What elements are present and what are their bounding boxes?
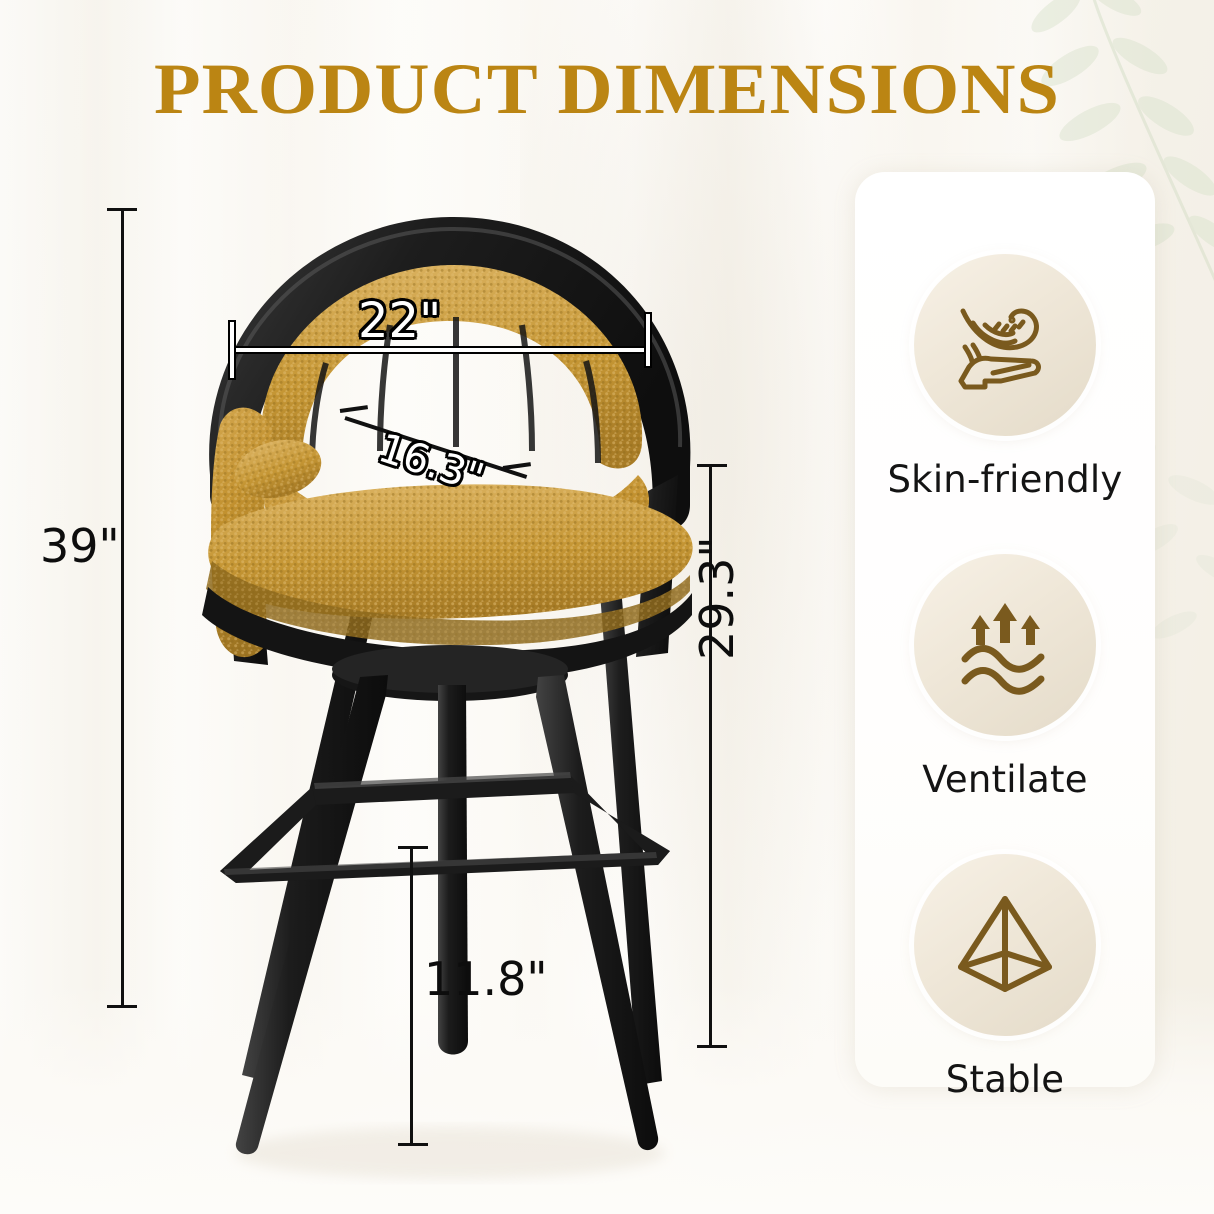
feature-item-skin-friendly[interactable]: Skin-friendly [855,254,1155,501]
feature-icon-circle-ventilate [914,554,1096,736]
pyramid-icon [949,889,1061,1001]
feature-icon-circle-skin-friendly [914,254,1096,436]
feature-item-stable[interactable]: Stable [855,854,1155,1101]
airflow-waves-icon [949,589,1061,701]
feature-label-skin-friendly: Skin-friendly [855,458,1155,501]
bar-stool-illustration [150,175,770,1185]
feature-item-ventilate[interactable]: Ventilate [855,554,1155,801]
feature-panel: Skin-friendly [855,172,1155,1087]
feature-label-stable: Stable [855,1058,1155,1101]
product-dimensions-infographic: PRODUCT DIMENSIONS [0,0,1214,1214]
stool-legs-front [236,675,658,1154]
page-title: PRODUCT DIMENSIONS [0,48,1214,131]
hand-fabric-icon [949,289,1061,401]
dimension-label-back-width: 22" [358,293,441,349]
dimension-label-footrest-height: 11.8" [424,952,548,1006]
feature-icon-circle-stable [914,854,1096,1036]
dimension-label-overall-height: 39" [40,519,120,573]
feature-label-ventilate: Ventilate [855,758,1155,801]
dimension-label-seat-height: 29.3" [690,536,744,660]
